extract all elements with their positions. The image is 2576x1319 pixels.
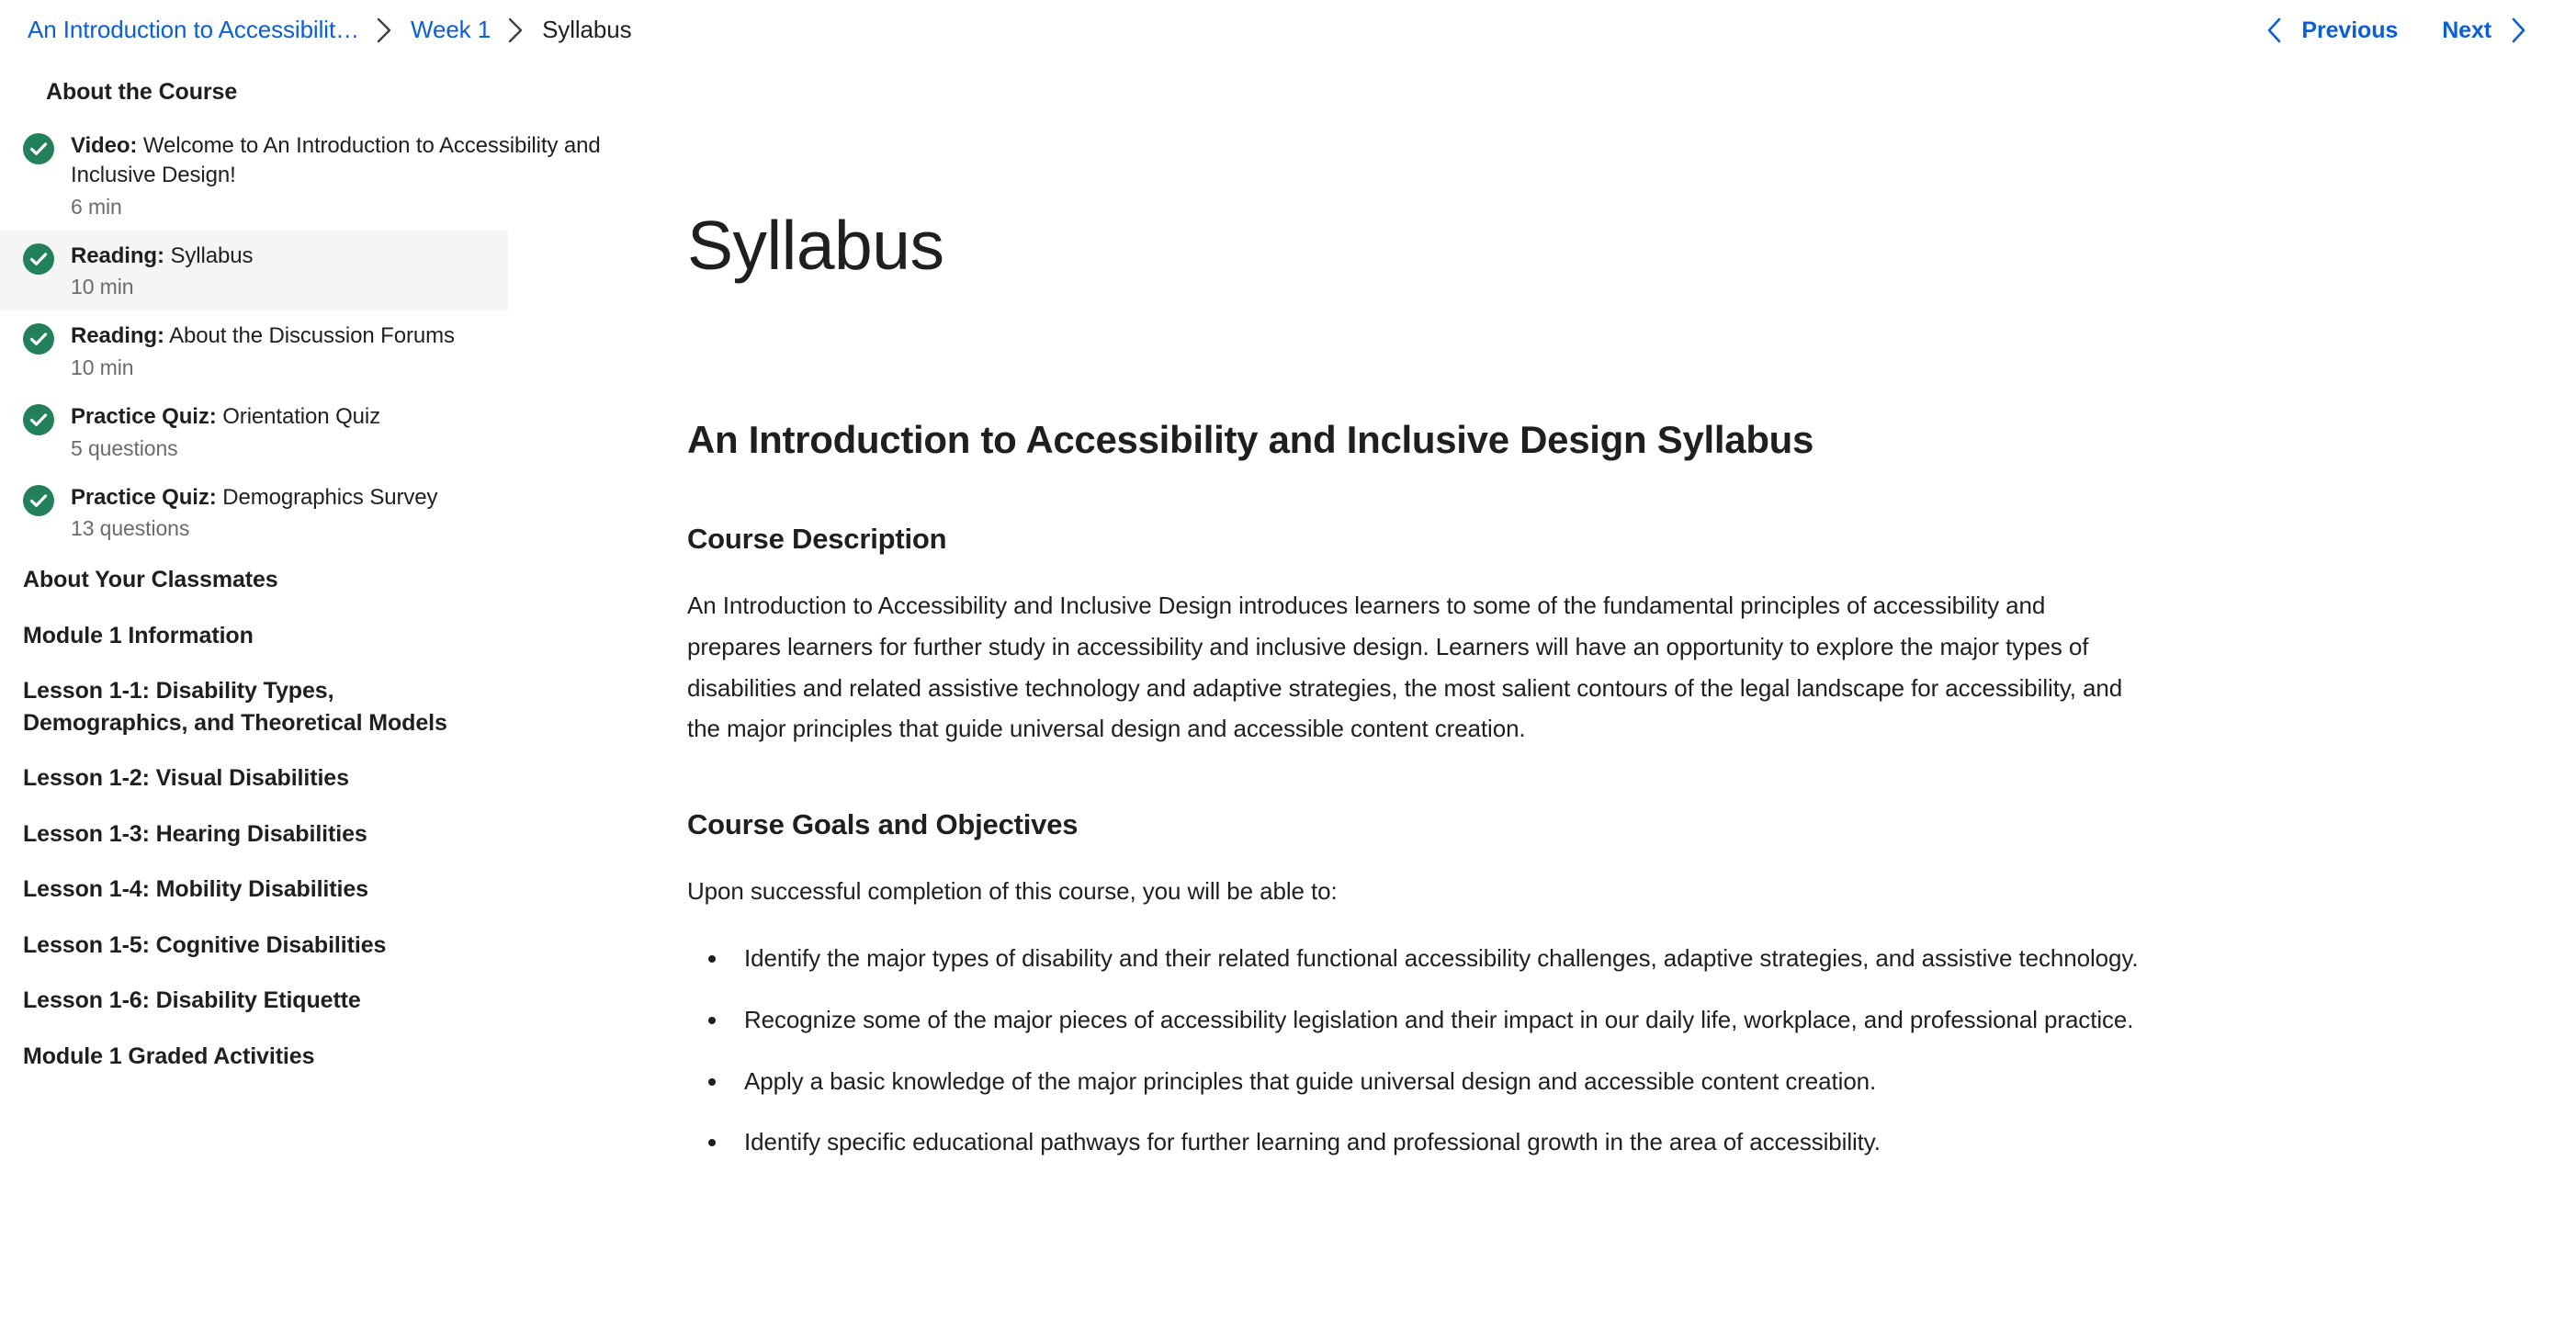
sidebar-item-reading-syllabus[interactable]: Reading: Syllabus 10 min: [0, 231, 508, 311]
sidebar-item-meta: 10 min: [71, 275, 253, 299]
sidebar-item-name: About the Discussion Forums: [169, 323, 455, 348]
next-button[interactable]: Next: [2433, 11, 2539, 50]
sidebar-item-title: Practice Quiz: Orientation Quiz: [71, 404, 380, 429]
sidebar-item-meta: 10 min: [71, 355, 455, 380]
check-circle-icon: [23, 323, 54, 355]
sidebar-item-quiz-orientation[interactable]: Practice Quiz: Orientation Quiz 5 questi…: [0, 391, 680, 472]
check-circle-icon: [23, 404, 54, 435]
breadcrumb-week[interactable]: Week 1: [411, 16, 491, 44]
chevron-right-icon: [2506, 17, 2530, 44]
check-circle-icon: [23, 133, 54, 164]
sidebar-item-quiz-demographics[interactable]: Practice Quiz: Demographics Survey 13 qu…: [0, 472, 680, 553]
sidebar-link-module-1-information[interactable]: Module 1 Information: [0, 608, 478, 664]
sidebar-link-lesson-1-5[interactable]: Lesson 1-5: Cognitive Disabilities: [0, 918, 478, 974]
sidebar-item-body: Reading: About the Discussion Forums 10 …: [71, 321, 455, 380]
sidebar-item-body: Practice Quiz: Orientation Quiz 5 questi…: [71, 402, 380, 461]
page-layout: About the Course Video: Welcome to An In…: [0, 61, 2576, 1319]
sidebar-link-module-1-graded[interactable]: Module 1 Graded Activities: [0, 1029, 478, 1085]
sidebar-link-lesson-1-3[interactable]: Lesson 1-3: Hearing Disabilities: [0, 806, 478, 862]
course-description-heading: Course Description: [687, 521, 2389, 558]
sidebar-link-lesson-1-1[interactable]: Lesson 1-1: Disability Types, Demographi…: [0, 663, 478, 750]
course-goals-heading: Course Goals and Objectives: [687, 806, 2389, 843]
sidebar-item-meta: 6 min: [71, 195, 652, 220]
sidebar-link-about-classmates[interactable]: About Your Classmates: [0, 552, 478, 608]
list-item: Recognize some of the major pieces of ac…: [729, 999, 2175, 1041]
breadcrumb-current: Syllabus: [542, 16, 631, 44]
sidebar-item-title: Reading: Syllabus: [71, 243, 253, 268]
check-circle-icon: [23, 243, 54, 275]
sidebar-item-kind: Practice Quiz:: [71, 485, 217, 510]
sidebar-item-name: Welcome to An Introduction to Accessibil…: [71, 133, 601, 188]
chevron-right-icon: [359, 17, 411, 44]
check-circle-icon: [23, 485, 54, 516]
sidebar-link-lesson-1-4[interactable]: Lesson 1-4: Mobility Disabilities: [0, 862, 478, 918]
sidebar-link-lesson-1-6[interactable]: Lesson 1-6: Disability Etiquette: [0, 973, 478, 1029]
sidebar-item-kind: Video:: [71, 133, 137, 158]
sidebar-item-name: Syllabus: [170, 243, 253, 268]
sidebar-item-meta: 13 questions: [71, 516, 437, 541]
sidebar-item-kind: Practice Quiz:: [71, 404, 217, 429]
sidebar-item-name: Demographics Survey: [222, 485, 437, 510]
page-navigation: Previous Next: [2254, 11, 2539, 50]
list-item: Identify specific educational pathways f…: [729, 1122, 2175, 1163]
next-label: Next: [2442, 17, 2491, 44]
sidebar-item-meta: 5 questions: [71, 436, 380, 461]
main-content: Syllabus An Introduction to Accessibilit…: [680, 61, 2499, 1183]
sidebar-item-reading-forums[interactable]: Reading: About the Discussion Forums 10 …: [0, 310, 680, 391]
chevron-left-icon: [2263, 17, 2287, 44]
sidebar-item-kind: Reading:: [71, 243, 164, 268]
sidebar-link-lesson-1-2[interactable]: Lesson 1-2: Visual Disabilities: [0, 750, 478, 806]
sidebar-item-title: Practice Quiz: Demographics Survey: [71, 485, 437, 510]
list-item: Identify the major types of disability a…: [729, 938, 2175, 979]
course-goals-list: Identify the major types of disability a…: [687, 938, 2175, 1163]
sidebar-item-name: Orientation Quiz: [222, 404, 380, 429]
sidebar-item-body: Practice Quiz: Demographics Survey 13 qu…: [71, 483, 437, 542]
course-sidebar: About the Course Video: Welcome to An In…: [0, 61, 680, 1084]
previous-label: Previous: [2301, 17, 2398, 44]
chevron-right-icon: [491, 17, 542, 44]
breadcrumb-course[interactable]: An Introduction to Accessibilit…: [28, 16, 359, 44]
previous-button[interactable]: Previous: [2254, 11, 2407, 50]
course-description-body: An Introduction to Accessibility and Inc…: [687, 585, 2130, 750]
breadcrumb: An Introduction to Accessibilit… Week 1 …: [28, 16, 632, 44]
course-goals-intro: Upon successful completion of this cours…: [687, 871, 2130, 912]
page-title: Syllabus: [687, 208, 2389, 284]
top-bar: An Introduction to Accessibilit… Week 1 …: [0, 0, 2576, 61]
sidebar-item-title: Video: Welcome to An Introduction to Acc…: [71, 133, 601, 188]
sidebar-item-kind: Reading:: [71, 323, 164, 348]
sidebar-item-title: Reading: About the Discussion Forums: [71, 323, 455, 348]
sidebar-section-heading: About the Course: [0, 64, 680, 120]
sidebar-item-body: Reading: Syllabus 10 min: [71, 242, 253, 300]
sidebar-item-body: Video: Welcome to An Introduction to Acc…: [71, 131, 652, 220]
document-heading: An Introduction to Accessibility and Inc…: [687, 416, 2389, 465]
sidebar-item-video-welcome[interactable]: Video: Welcome to An Introduction to Acc…: [0, 120, 680, 231]
list-item: Apply a basic knowledge of the major pri…: [729, 1061, 2175, 1102]
